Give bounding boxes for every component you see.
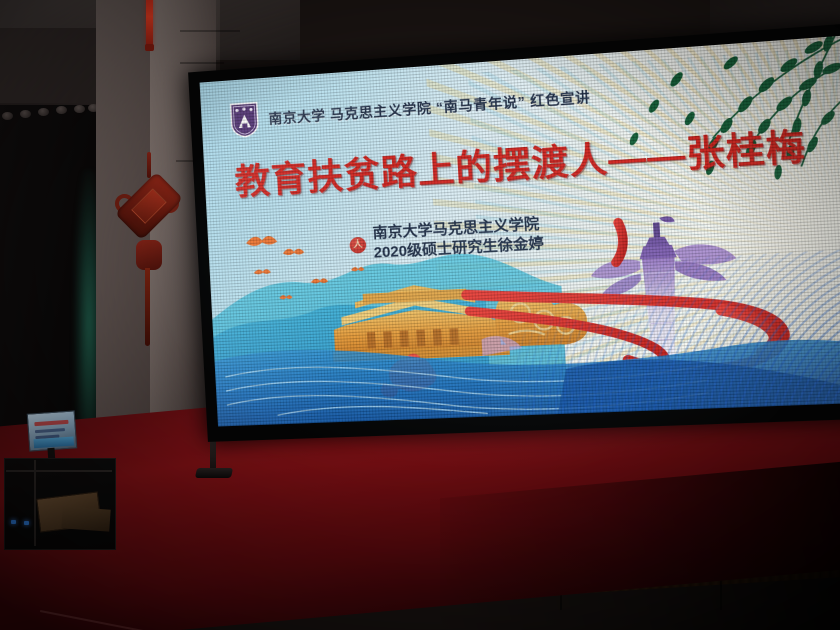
laptop-slide-title [34,420,68,426]
tassel-cap [145,44,154,51]
cardboard-box [61,506,110,531]
curtain-hook-icon [38,108,49,116]
presentation-slide: 南京大学 马克思主义学院 “南马青年说” 红色宣讲 教育扶贫路上的摆渡人——张桂… [200,35,840,426]
red-ceiling-tassel-icon [146,0,153,48]
laptop-slide-line [35,428,65,433]
chinese-knot-ornament-icon [118,152,180,352]
led-display-screen[interactable]: 南京大学 马克思主义学院 “南马青年说” 红色宣讲 教育扶贫路上的摆渡人——张桂… [188,23,840,442]
knot-tail [145,268,150,346]
curtain-hook-icon [20,110,31,118]
rack-frame [6,470,112,472]
wall-seam [180,62,224,64]
av-laptop-screen[interactable] [27,410,78,451]
curtain-hook-icon [2,112,13,120]
rack-status-led [24,521,29,525]
presenter-badge-icon: 人 [349,236,366,253]
auditorium-photo: 南京大学 马克思主义学院 “南马青年说” 红色宣讲 教育扶贫路上的摆渡人——张桂… [0,0,840,630]
knot-bead [136,240,162,270]
curtain-hook-icon [74,105,85,113]
nanjing-university-shield-emblem-icon [229,100,261,138]
wall-seam [180,30,240,32]
dotted-wave-pattern [510,248,840,422]
laptop-slide-wave [34,437,75,449]
mic-stand-base [195,468,233,478]
rack-power-led [11,520,16,524]
knot-top-stick [147,152,151,178]
curtain-hook-icon [56,106,67,114]
